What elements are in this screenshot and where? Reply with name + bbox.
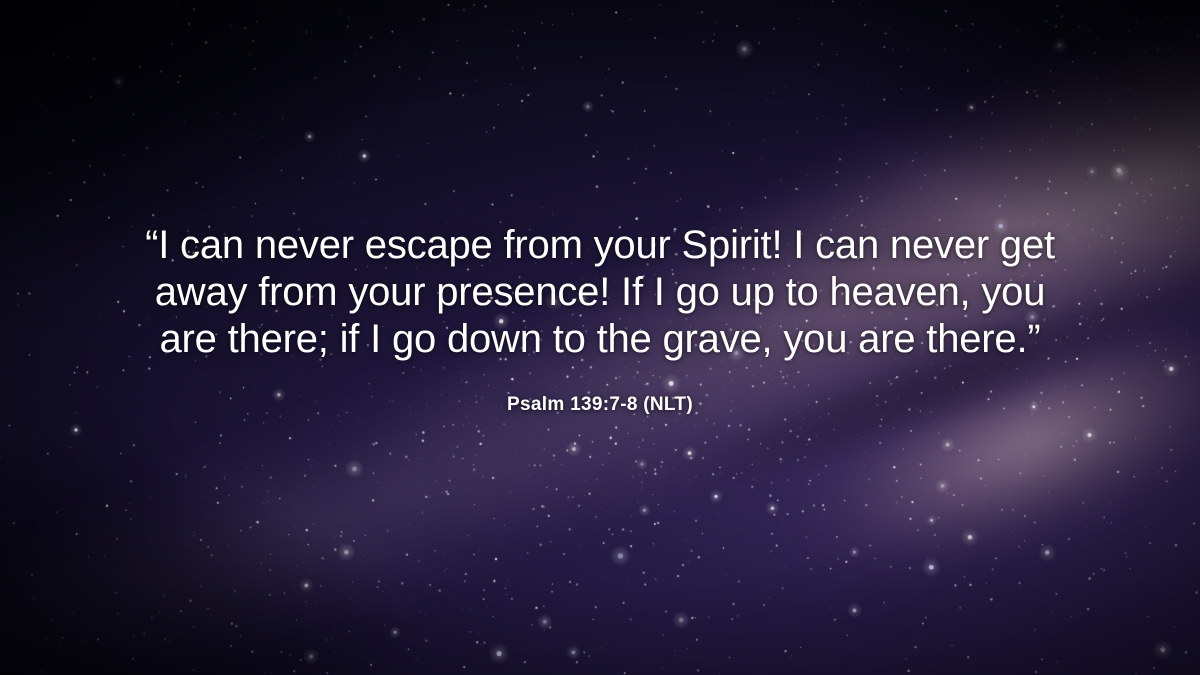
quote-line-3: are there; if I go down to the grave, yo… [46, 316, 1154, 363]
quote-block: “I can never escape from your Spirit! I … [0, 222, 1200, 416]
quote-line-2: away from your presence! If I go up to h… [46, 269, 1154, 316]
verse-attribution: Psalm 139:7-8 (NLT) [46, 394, 1154, 416]
scripture-quote-graphic: “I can never escape from your Spirit! I … [0, 0, 1200, 675]
quote-line-1: “I can never escape from your Spirit! I … [46, 222, 1154, 269]
